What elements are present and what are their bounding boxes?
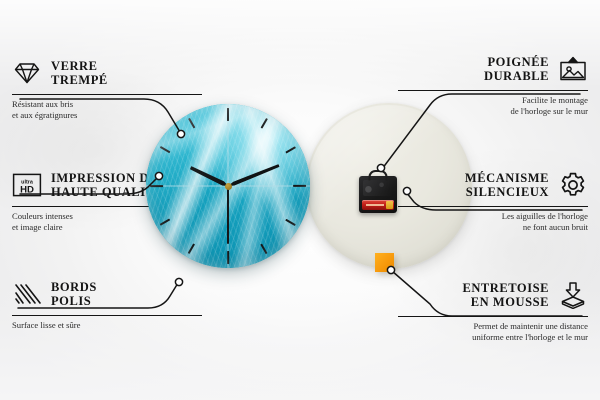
gear-icon <box>558 170 588 200</box>
polished-edges-icon <box>12 279 42 309</box>
callout-header: VERRE TREMPÉ <box>12 56 202 90</box>
battery-stripe <box>366 204 384 206</box>
callout-divider <box>12 315 202 317</box>
svg-text:HD: HD <box>20 184 34 195</box>
ultra-hd-icon: ultra HD <box>12 170 42 200</box>
callout-entretoise-en-mousse: ENTRETOISE EN MOUSSE Permet de maintenir… <box>398 278 588 343</box>
hand-center-cap <box>225 183 232 190</box>
callout-mecanisme-silencieux: MÉCANISME SILENCIEUX Les aiguilles de l'… <box>398 168 588 233</box>
callout-divider <box>12 94 202 96</box>
callout-header: BORDS POLIS <box>12 277 202 311</box>
callout-divider <box>398 206 588 208</box>
callout-subtitle: Facilite le montage de l'horloge sur le … <box>398 95 588 117</box>
callout-header: ENTRETOISE EN MOUSSE <box>398 278 588 312</box>
foam-spacer-icon <box>558 280 588 310</box>
callout-header: MÉCANISME SILENCIEUX <box>398 168 588 202</box>
second-hand <box>227 186 229 244</box>
callout-bords-polis: BORDS POLIS Surface lisse et sûre <box>12 277 202 331</box>
callout-subtitle: Permet de maintenir une distance uniform… <box>398 321 588 343</box>
quartz-movement <box>359 176 397 213</box>
callout-title: VERRE TREMPÉ <box>51 59 108 88</box>
callout-divider <box>398 316 588 318</box>
foam-spacer <box>375 253 394 272</box>
callout-title: MÉCANISME SILENCIEUX <box>465 171 549 200</box>
wall-clock-front-face <box>146 104 310 268</box>
callout-subtitle: Surface lisse et sûre <box>12 320 202 331</box>
movement-surface-detail <box>363 180 393 196</box>
callout-poignee-durable: POIGNÉE DURABLE Facilite le montage de l… <box>398 52 588 117</box>
callout-title: POIGNÉE DURABLE <box>484 55 549 84</box>
callout-header: POIGNÉE DURABLE <box>398 52 588 86</box>
callout-title: BORDS POLIS <box>51 280 97 309</box>
callout-subtitle: Les aiguilles de l'horloge ne font aucun… <box>398 211 588 233</box>
battery <box>362 200 394 210</box>
callout-title: ENTRETOISE EN MOUSSE <box>462 281 549 310</box>
callout-divider <box>398 90 588 92</box>
picture-hanger-icon <box>558 54 588 84</box>
diamond-icon <box>12 58 42 88</box>
infographic-canvas: VERRE TREMPÉ Résistant aux bris et aux é… <box>0 0 600 400</box>
